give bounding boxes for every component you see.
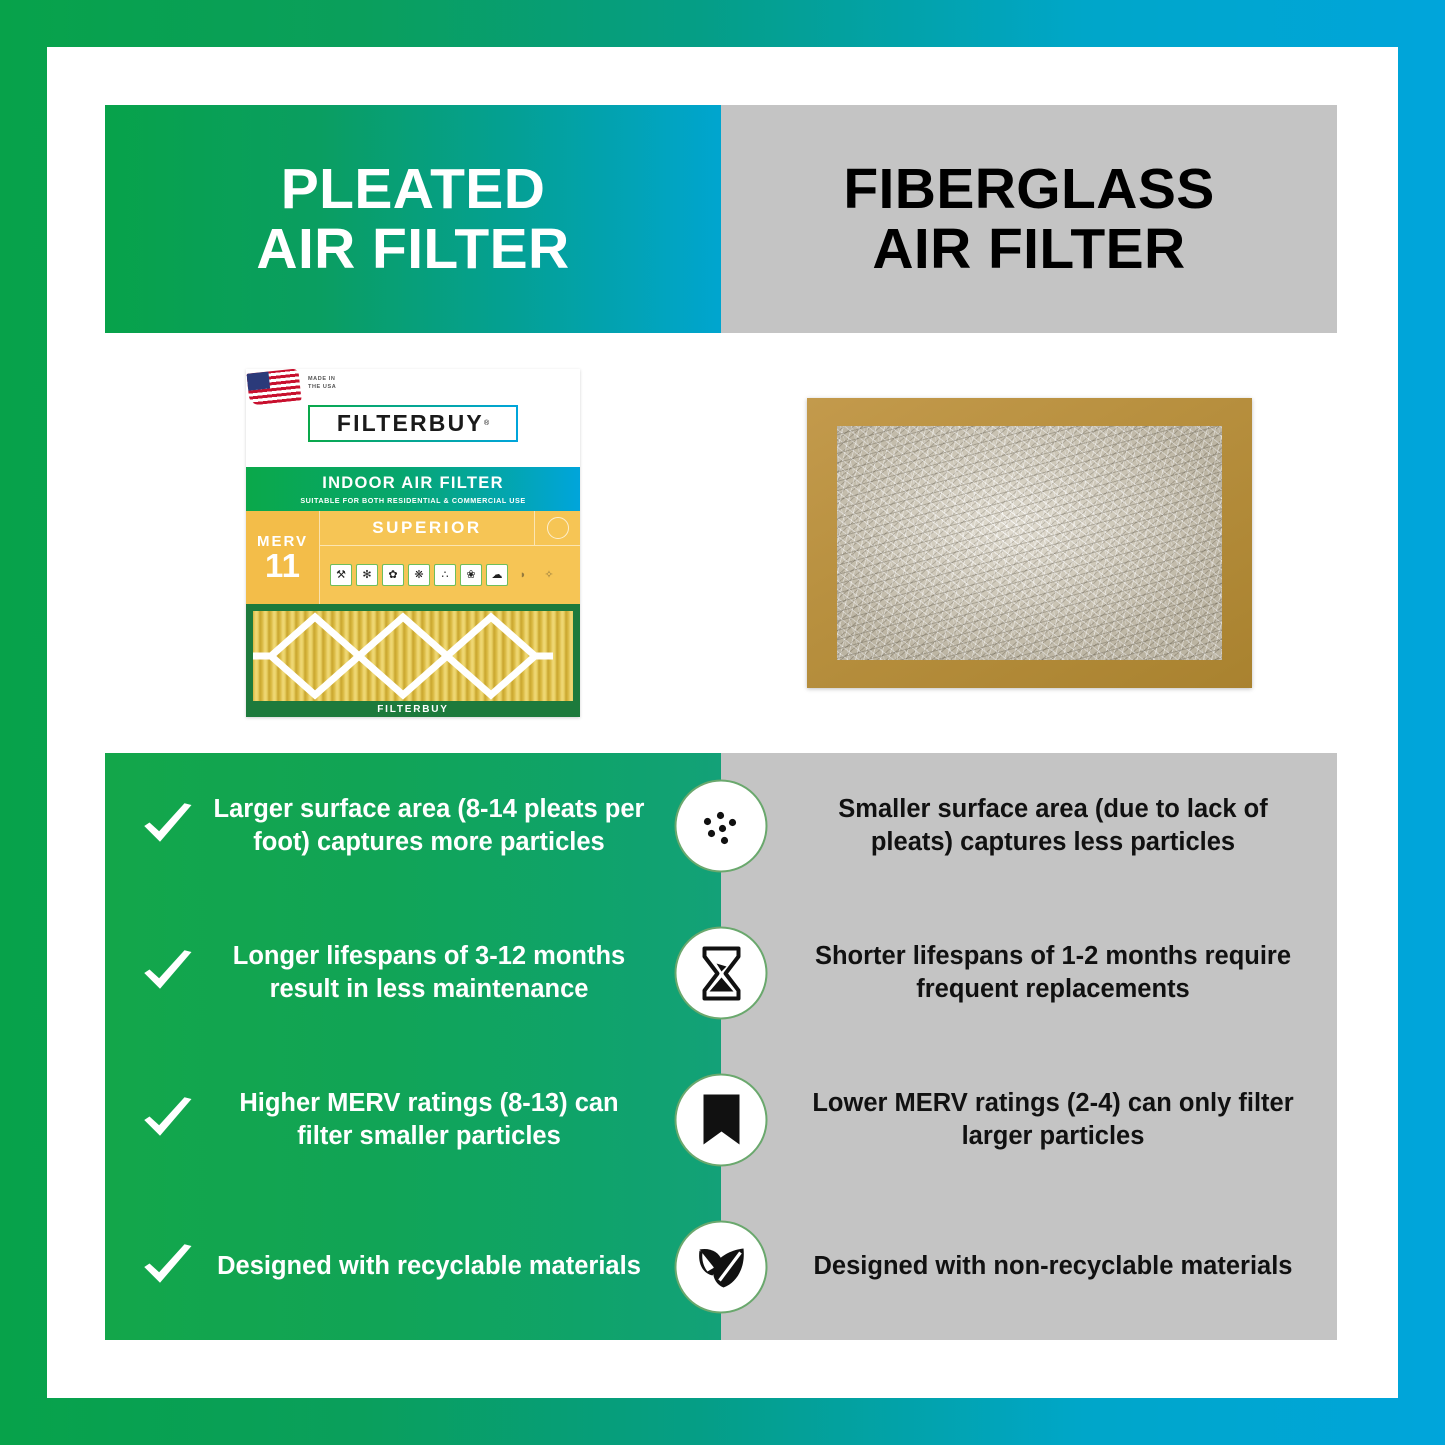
row-left-pleated: Higher MERV ratings (8-13) can filter sm… [105, 1047, 721, 1194]
row-left-text: Designed with recyclable materials [213, 1250, 645, 1283]
header-pleated-line2: AIR FILTER [256, 219, 569, 279]
row-right-text: Smaller surface area (due to lack of ple… [797, 793, 1309, 859]
checkmark-icon [139, 945, 195, 1001]
made-in-usa-label: MADE INTHE USA [308, 375, 336, 392]
box-band: INDOOR AIR FILTER SUITABLE FOR BOTH RESI… [246, 467, 580, 511]
dust-icon: ⚒ [330, 564, 352, 586]
brand-name: FILTERBUY [337, 410, 484, 437]
fiberglass-shading [837, 426, 1222, 660]
white-card: PLEATED AIR FILTER FIBERGLASS AIR FILTER… [47, 47, 1398, 1398]
box-top-section: MADE INTHE USA FILTERBUY® [246, 369, 580, 467]
fiberglass-product-cell [721, 333, 1337, 753]
row-right-text: Shorter lifespans of 1-2 months require … [797, 940, 1309, 1006]
header-pleated-line1: PLEATED [256, 159, 569, 219]
row-left-pleated: Larger surface area (8-14 pleats per foo… [105, 753, 721, 900]
registered-mark: ® [484, 420, 489, 427]
box-band-title: INDOOR AIR FILTER [322, 474, 504, 493]
pollen-icon: ✻ [356, 564, 378, 586]
comparison-row: Designed with recyclable materials Desig… [105, 1193, 1337, 1340]
row-right-fiberglass: Lower MERV ratings (2-4) can only filter… [721, 1047, 1337, 1194]
brand-logo: FILTERBUY® [308, 405, 518, 442]
particles-dots-icon [675, 780, 768, 873]
fiberglass-media-texture [837, 426, 1222, 660]
row-right-fiberglass: Smaller surface area (due to lack of ple… [721, 753, 1337, 900]
comparison-infographic: PLEATED AIR FILTER FIBERGLASS AIR FILTER… [105, 105, 1337, 1340]
leaf-eco-icon [675, 1220, 768, 1313]
row-right-fiberglass: Shorter lifespans of 1-2 months require … [721, 900, 1337, 1047]
feature-icon-row: ⚒ ✻ ✿ ❋ ∴ ❀ ☁ ◗ ✧ [320, 546, 580, 604]
comparison-row: Larger surface area (8-14 pleats per foo… [105, 753, 1337, 900]
row-left-pleated: Designed with recyclable materials [105, 1193, 721, 1340]
pleated-product-cell: MADE INTHE USA FILTERBUY® INDOOR AIR FIL… [105, 333, 721, 753]
filterbuy-box-image: MADE INTHE USA FILTERBUY® INDOOR AIR FIL… [246, 369, 580, 717]
merv-badge: MERV 11 [246, 511, 320, 604]
row-left-text: Larger surface area (8-14 pleats per foo… [213, 793, 645, 859]
row-right-fiberglass: Designed with non-recyclable materials [721, 1193, 1337, 1340]
hourglass-icon [675, 927, 768, 1020]
header-fiberglass: FIBERGLASS AIR FILTER [721, 105, 1337, 333]
comparison-row: Longer lifespans of 3-12 months result i… [105, 900, 1337, 1047]
row-right-text: Designed with non-recyclable materials [814, 1250, 1293, 1283]
diamond-support-grid [253, 611, 573, 701]
row-left-pleated: Longer lifespans of 3-12 months result i… [105, 900, 721, 1047]
pill-icon-faded: ◗ [512, 564, 534, 586]
merv-value: 11 [265, 550, 300, 581]
row-left-text: Longer lifespans of 3-12 months result i… [213, 940, 645, 1006]
header-fiberglass-line2: AIR FILTER [843, 219, 1214, 279]
filter-footer-label: FILTERBUY [246, 704, 580, 715]
mold-icon: ✿ [382, 564, 404, 586]
pleated-filter-artwork: FILTERBUY [246, 604, 580, 717]
header-fiberglass-line1: FIBERGLASS [843, 159, 1214, 219]
checkmark-icon [139, 798, 195, 854]
particle-icon: ∴ [434, 564, 456, 586]
ul-seal-icon [534, 511, 580, 545]
bookmark-ribbon-icon [675, 1073, 768, 1166]
box-merv-section: MERV 11 SUPERIOR ⚒ ✻ ✿ [246, 511, 580, 604]
bacteria-icon: ❋ [408, 564, 430, 586]
row-right-text: Lower MERV ratings (2-4) can only filter… [797, 1087, 1309, 1153]
smoke-icon: ☁ [486, 564, 508, 586]
comparison-rows: Larger surface area (8-14 pleats per foo… [105, 753, 1337, 1340]
comparison-row: Higher MERV ratings (8-13) can filter sm… [105, 1047, 1337, 1194]
checkmark-icon [139, 1239, 195, 1295]
header-band: PLEATED AIR FILTER FIBERGLASS AIR FILTER [105, 105, 1337, 333]
pet-dander-icon: ❀ [460, 564, 482, 586]
row-left-text: Higher MERV ratings (8-13) can filter sm… [213, 1087, 645, 1153]
header-pleated: PLEATED AIR FILTER [105, 105, 721, 333]
checkmark-icon [139, 1092, 195, 1148]
fiberglass-filter-image [807, 398, 1252, 688]
box-merv-right: SUPERIOR ⚒ ✻ ✿ ❋ ∴ ❀ ☁ ◗ [320, 511, 580, 604]
virus-icon-faded: ✧ [538, 564, 560, 586]
grade-row: SUPERIOR [320, 511, 580, 546]
usa-flag-icon [246, 369, 301, 406]
product-image-band: MADE INTHE USA FILTERBUY® INDOOR AIR FIL… [105, 333, 1337, 753]
box-band-subtitle: SUITABLE FOR BOTH RESIDENTIAL & COMMERCI… [300, 496, 525, 505]
grade-label: SUPERIOR [320, 518, 534, 538]
